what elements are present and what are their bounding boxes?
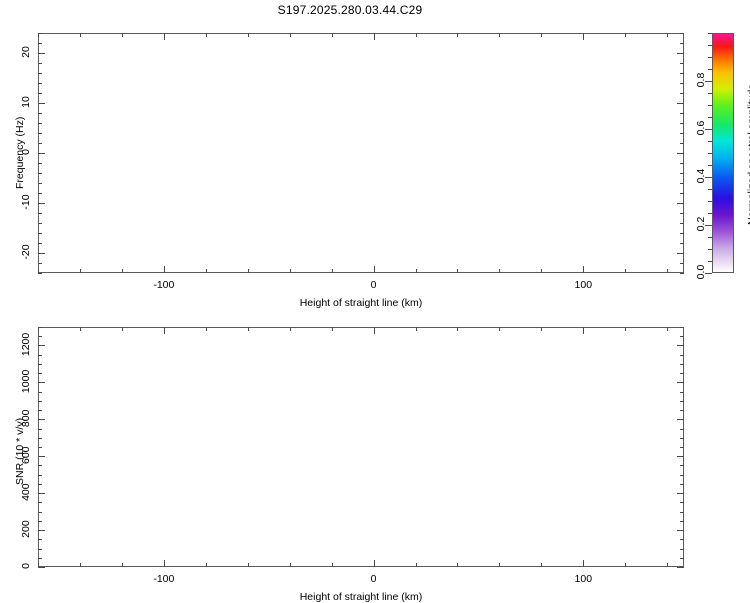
y-tick-label: -20 bbox=[20, 232, 32, 272]
axis-tick bbox=[680, 113, 684, 114]
axis-tick bbox=[680, 465, 684, 466]
axis-tick bbox=[164, 560, 165, 567]
axis-tick bbox=[667, 33, 668, 37]
axis-tick bbox=[164, 327, 165, 334]
axis-tick bbox=[332, 269, 333, 273]
x-tick-label: 100 bbox=[565, 279, 601, 291]
axis-tick bbox=[625, 563, 626, 567]
axis-tick bbox=[680, 438, 684, 439]
axis-tick bbox=[680, 263, 684, 264]
axis-tick bbox=[374, 327, 375, 334]
axis-tick bbox=[206, 33, 207, 37]
axis-tick bbox=[38, 113, 42, 114]
axis-tick bbox=[708, 237, 712, 238]
y-tick-label: 20 bbox=[20, 32, 32, 72]
axis-tick bbox=[680, 410, 684, 411]
colorbar-tick-label: 0.4 bbox=[695, 156, 707, 196]
colorbar-tick-label: 0.6 bbox=[695, 108, 707, 148]
axis-tick bbox=[38, 253, 45, 254]
axis-tick bbox=[457, 33, 458, 37]
axis-tick bbox=[38, 512, 42, 513]
axis-tick bbox=[708, 93, 712, 94]
axis-tick bbox=[290, 327, 291, 331]
axis-tick bbox=[680, 123, 684, 124]
axis-tick bbox=[677, 382, 684, 383]
axis-tick bbox=[680, 558, 684, 559]
axis-tick bbox=[38, 447, 42, 448]
axis-tick bbox=[38, 438, 42, 439]
axis-tick bbox=[680, 273, 684, 274]
axis-tick bbox=[38, 521, 42, 522]
axis-tick bbox=[80, 33, 81, 37]
axis-tick bbox=[332, 563, 333, 567]
axis-tick bbox=[38, 502, 42, 503]
snr-xlabel: Height of straight line (km) bbox=[38, 591, 684, 603]
axis-tick bbox=[122, 269, 123, 273]
axis-tick bbox=[499, 269, 500, 273]
axis-tick bbox=[680, 327, 684, 328]
axis-tick bbox=[680, 173, 684, 174]
axis-tick bbox=[677, 456, 684, 457]
axis-tick bbox=[38, 429, 42, 430]
axis-tick bbox=[38, 153, 45, 154]
axis-tick bbox=[680, 233, 684, 234]
axis-tick bbox=[667, 327, 668, 331]
colorbar-frame bbox=[712, 33, 734, 273]
axis-tick bbox=[680, 355, 684, 356]
figure-title: S197.2025.280.03.44.C29 bbox=[0, 3, 700, 17]
axis-tick bbox=[680, 373, 684, 374]
axis-tick bbox=[680, 521, 684, 522]
axis-tick bbox=[38, 243, 42, 244]
axis-tick bbox=[583, 560, 584, 567]
axis-tick bbox=[708, 261, 712, 262]
axis-tick bbox=[541, 33, 542, 37]
axis-tick bbox=[38, 336, 42, 337]
axis-tick bbox=[122, 563, 123, 567]
axis-tick bbox=[677, 530, 684, 531]
axis-tick bbox=[680, 539, 684, 540]
axis-tick bbox=[38, 43, 42, 44]
axis-tick bbox=[248, 269, 249, 273]
axis-tick bbox=[38, 484, 42, 485]
colorbar-tick-label: 0.2 bbox=[695, 204, 707, 244]
axis-tick bbox=[332, 33, 333, 37]
axis-tick bbox=[680, 183, 684, 184]
axis-tick bbox=[38, 410, 42, 411]
axis-tick bbox=[708, 33, 712, 34]
axis-tick bbox=[677, 493, 684, 494]
axis-tick bbox=[708, 105, 712, 106]
axis-tick bbox=[677, 567, 684, 568]
axis-tick bbox=[677, 153, 684, 154]
axis-tick bbox=[708, 117, 712, 118]
axis-tick bbox=[248, 33, 249, 37]
axis-tick bbox=[38, 133, 42, 134]
axis-tick bbox=[38, 373, 42, 374]
axis-tick bbox=[38, 103, 45, 104]
axis-tick bbox=[38, 83, 42, 84]
axis-tick bbox=[680, 475, 684, 476]
axis-tick bbox=[38, 193, 42, 194]
axis-tick bbox=[248, 327, 249, 331]
axis-tick bbox=[583, 266, 584, 273]
axis-tick bbox=[38, 493, 45, 494]
figure-root: S197.2025.280.03.44.C29 -100010020100-10… bbox=[0, 0, 750, 600]
x-tick-label: 100 bbox=[565, 573, 601, 585]
axis-tick bbox=[708, 153, 712, 154]
x-tick-label: -100 bbox=[146, 573, 182, 585]
x-tick-label: 0 bbox=[356, 279, 392, 291]
axis-tick bbox=[38, 63, 42, 64]
axis-tick bbox=[206, 269, 207, 273]
snr-frame bbox=[38, 327, 684, 567]
axis-tick bbox=[164, 33, 165, 40]
axis-tick bbox=[680, 223, 684, 224]
axis-tick bbox=[680, 392, 684, 393]
axis-tick bbox=[206, 327, 207, 331]
axis-tick bbox=[290, 269, 291, 273]
spectrogram-frame bbox=[38, 33, 684, 273]
x-tick-label: -100 bbox=[146, 279, 182, 291]
axis-tick bbox=[122, 33, 123, 37]
axis-tick bbox=[206, 563, 207, 567]
axis-tick bbox=[499, 563, 500, 567]
axis-tick bbox=[38, 143, 42, 144]
axis-tick bbox=[416, 269, 417, 273]
axis-tick bbox=[38, 364, 42, 365]
axis-tick bbox=[38, 173, 42, 174]
axis-tick bbox=[677, 203, 684, 204]
axis-tick bbox=[164, 266, 165, 273]
axis-tick bbox=[374, 266, 375, 273]
axis-tick bbox=[38, 263, 42, 264]
axis-tick bbox=[38, 558, 42, 559]
axis-tick bbox=[583, 327, 584, 334]
axis-tick bbox=[38, 203, 45, 204]
axis-tick bbox=[38, 273, 42, 274]
axis-tick bbox=[708, 45, 712, 46]
axis-tick bbox=[541, 563, 542, 567]
axis-tick bbox=[332, 327, 333, 331]
axis-tick bbox=[38, 530, 45, 531]
axis-tick bbox=[38, 213, 42, 214]
y-tick-label: 1200 bbox=[20, 324, 32, 364]
axis-tick bbox=[290, 563, 291, 567]
axis-tick bbox=[38, 539, 42, 540]
axis-tick bbox=[38, 345, 45, 346]
axis-tick bbox=[38, 567, 45, 568]
axis-tick bbox=[38, 33, 42, 34]
axis-tick bbox=[677, 345, 684, 346]
axis-tick bbox=[457, 327, 458, 331]
axis-tick bbox=[80, 563, 81, 567]
axis-tick bbox=[80, 327, 81, 331]
y-tick-label: 1000 bbox=[20, 361, 32, 401]
axis-tick bbox=[708, 249, 712, 250]
x-tick-label: 0 bbox=[356, 573, 392, 585]
axis-tick bbox=[680, 512, 684, 513]
axis-tick bbox=[708, 57, 712, 58]
axis-tick bbox=[38, 419, 45, 420]
colorbar-label: Normalized spectral amplitude bbox=[746, 84, 750, 225]
axis-tick bbox=[38, 549, 42, 550]
axis-tick bbox=[38, 223, 42, 224]
axis-tick bbox=[708, 201, 712, 202]
axis-tick bbox=[38, 327, 42, 328]
axis-tick bbox=[680, 73, 684, 74]
axis-tick bbox=[38, 401, 42, 402]
axis-tick bbox=[38, 355, 42, 356]
colorbar-tick-label: 0.0 bbox=[695, 252, 707, 292]
axis-tick bbox=[677, 53, 684, 54]
axis-tick bbox=[416, 327, 417, 331]
axis-tick bbox=[38, 93, 42, 94]
axis-tick bbox=[541, 327, 542, 331]
axis-tick bbox=[667, 563, 668, 567]
axis-tick bbox=[680, 447, 684, 448]
axis-tick bbox=[680, 93, 684, 94]
axis-tick bbox=[38, 73, 42, 74]
axis-tick bbox=[708, 165, 712, 166]
axis-tick bbox=[667, 269, 668, 273]
axis-tick bbox=[680, 163, 684, 164]
axis-tick bbox=[680, 502, 684, 503]
axis-tick bbox=[680, 143, 684, 144]
axis-tick bbox=[680, 364, 684, 365]
axis-tick bbox=[38, 163, 42, 164]
axis-tick bbox=[80, 269, 81, 273]
axis-tick bbox=[416, 33, 417, 37]
axis-tick bbox=[122, 327, 123, 331]
axis-tick bbox=[290, 33, 291, 37]
axis-tick bbox=[677, 103, 684, 104]
snr-ylabel: SNR (10 * v/v) bbox=[14, 418, 26, 485]
axis-tick bbox=[680, 549, 684, 550]
axis-tick bbox=[677, 253, 684, 254]
axis-tick bbox=[708, 189, 712, 190]
axis-tick bbox=[677, 419, 684, 420]
axis-tick bbox=[457, 563, 458, 567]
y-tick-label: 200 bbox=[20, 509, 32, 549]
axis-tick bbox=[708, 69, 712, 70]
axis-tick bbox=[680, 401, 684, 402]
axis-tick bbox=[38, 465, 42, 466]
y-tick-label: 0 bbox=[20, 546, 32, 586]
axis-tick bbox=[680, 83, 684, 84]
axis-tick bbox=[680, 133, 684, 134]
axis-tick bbox=[38, 456, 45, 457]
axis-tick bbox=[38, 53, 45, 54]
axis-tick bbox=[680, 63, 684, 64]
axis-tick bbox=[680, 213, 684, 214]
colorbar-tick-label: 0.8 bbox=[695, 60, 707, 100]
axis-tick bbox=[38, 382, 45, 383]
axis-tick bbox=[38, 475, 42, 476]
axis-tick bbox=[680, 33, 684, 34]
axis-tick bbox=[680, 484, 684, 485]
axis-tick bbox=[374, 560, 375, 567]
axis-tick bbox=[680, 243, 684, 244]
axis-tick bbox=[680, 43, 684, 44]
axis-tick bbox=[499, 327, 500, 331]
axis-tick bbox=[499, 33, 500, 37]
axis-tick bbox=[625, 33, 626, 37]
axis-tick bbox=[680, 193, 684, 194]
axis-tick bbox=[38, 233, 42, 234]
axis-tick bbox=[708, 141, 712, 142]
axis-tick bbox=[248, 563, 249, 567]
axis-tick bbox=[708, 213, 712, 214]
axis-tick bbox=[374, 33, 375, 40]
axis-tick bbox=[38, 123, 42, 124]
axis-tick bbox=[541, 269, 542, 273]
axis-tick bbox=[416, 563, 417, 567]
axis-tick bbox=[680, 336, 684, 337]
axis-tick bbox=[457, 269, 458, 273]
spectrogram-ylabel: Frequency (Hz) bbox=[14, 117, 26, 189]
axis-tick bbox=[38, 392, 42, 393]
axis-tick bbox=[680, 429, 684, 430]
axis-tick bbox=[625, 269, 626, 273]
spectrogram-xlabel: Height of straight line (km) bbox=[38, 297, 684, 309]
axis-tick bbox=[38, 183, 42, 184]
axis-tick bbox=[583, 33, 584, 40]
axis-tick bbox=[625, 327, 626, 331]
